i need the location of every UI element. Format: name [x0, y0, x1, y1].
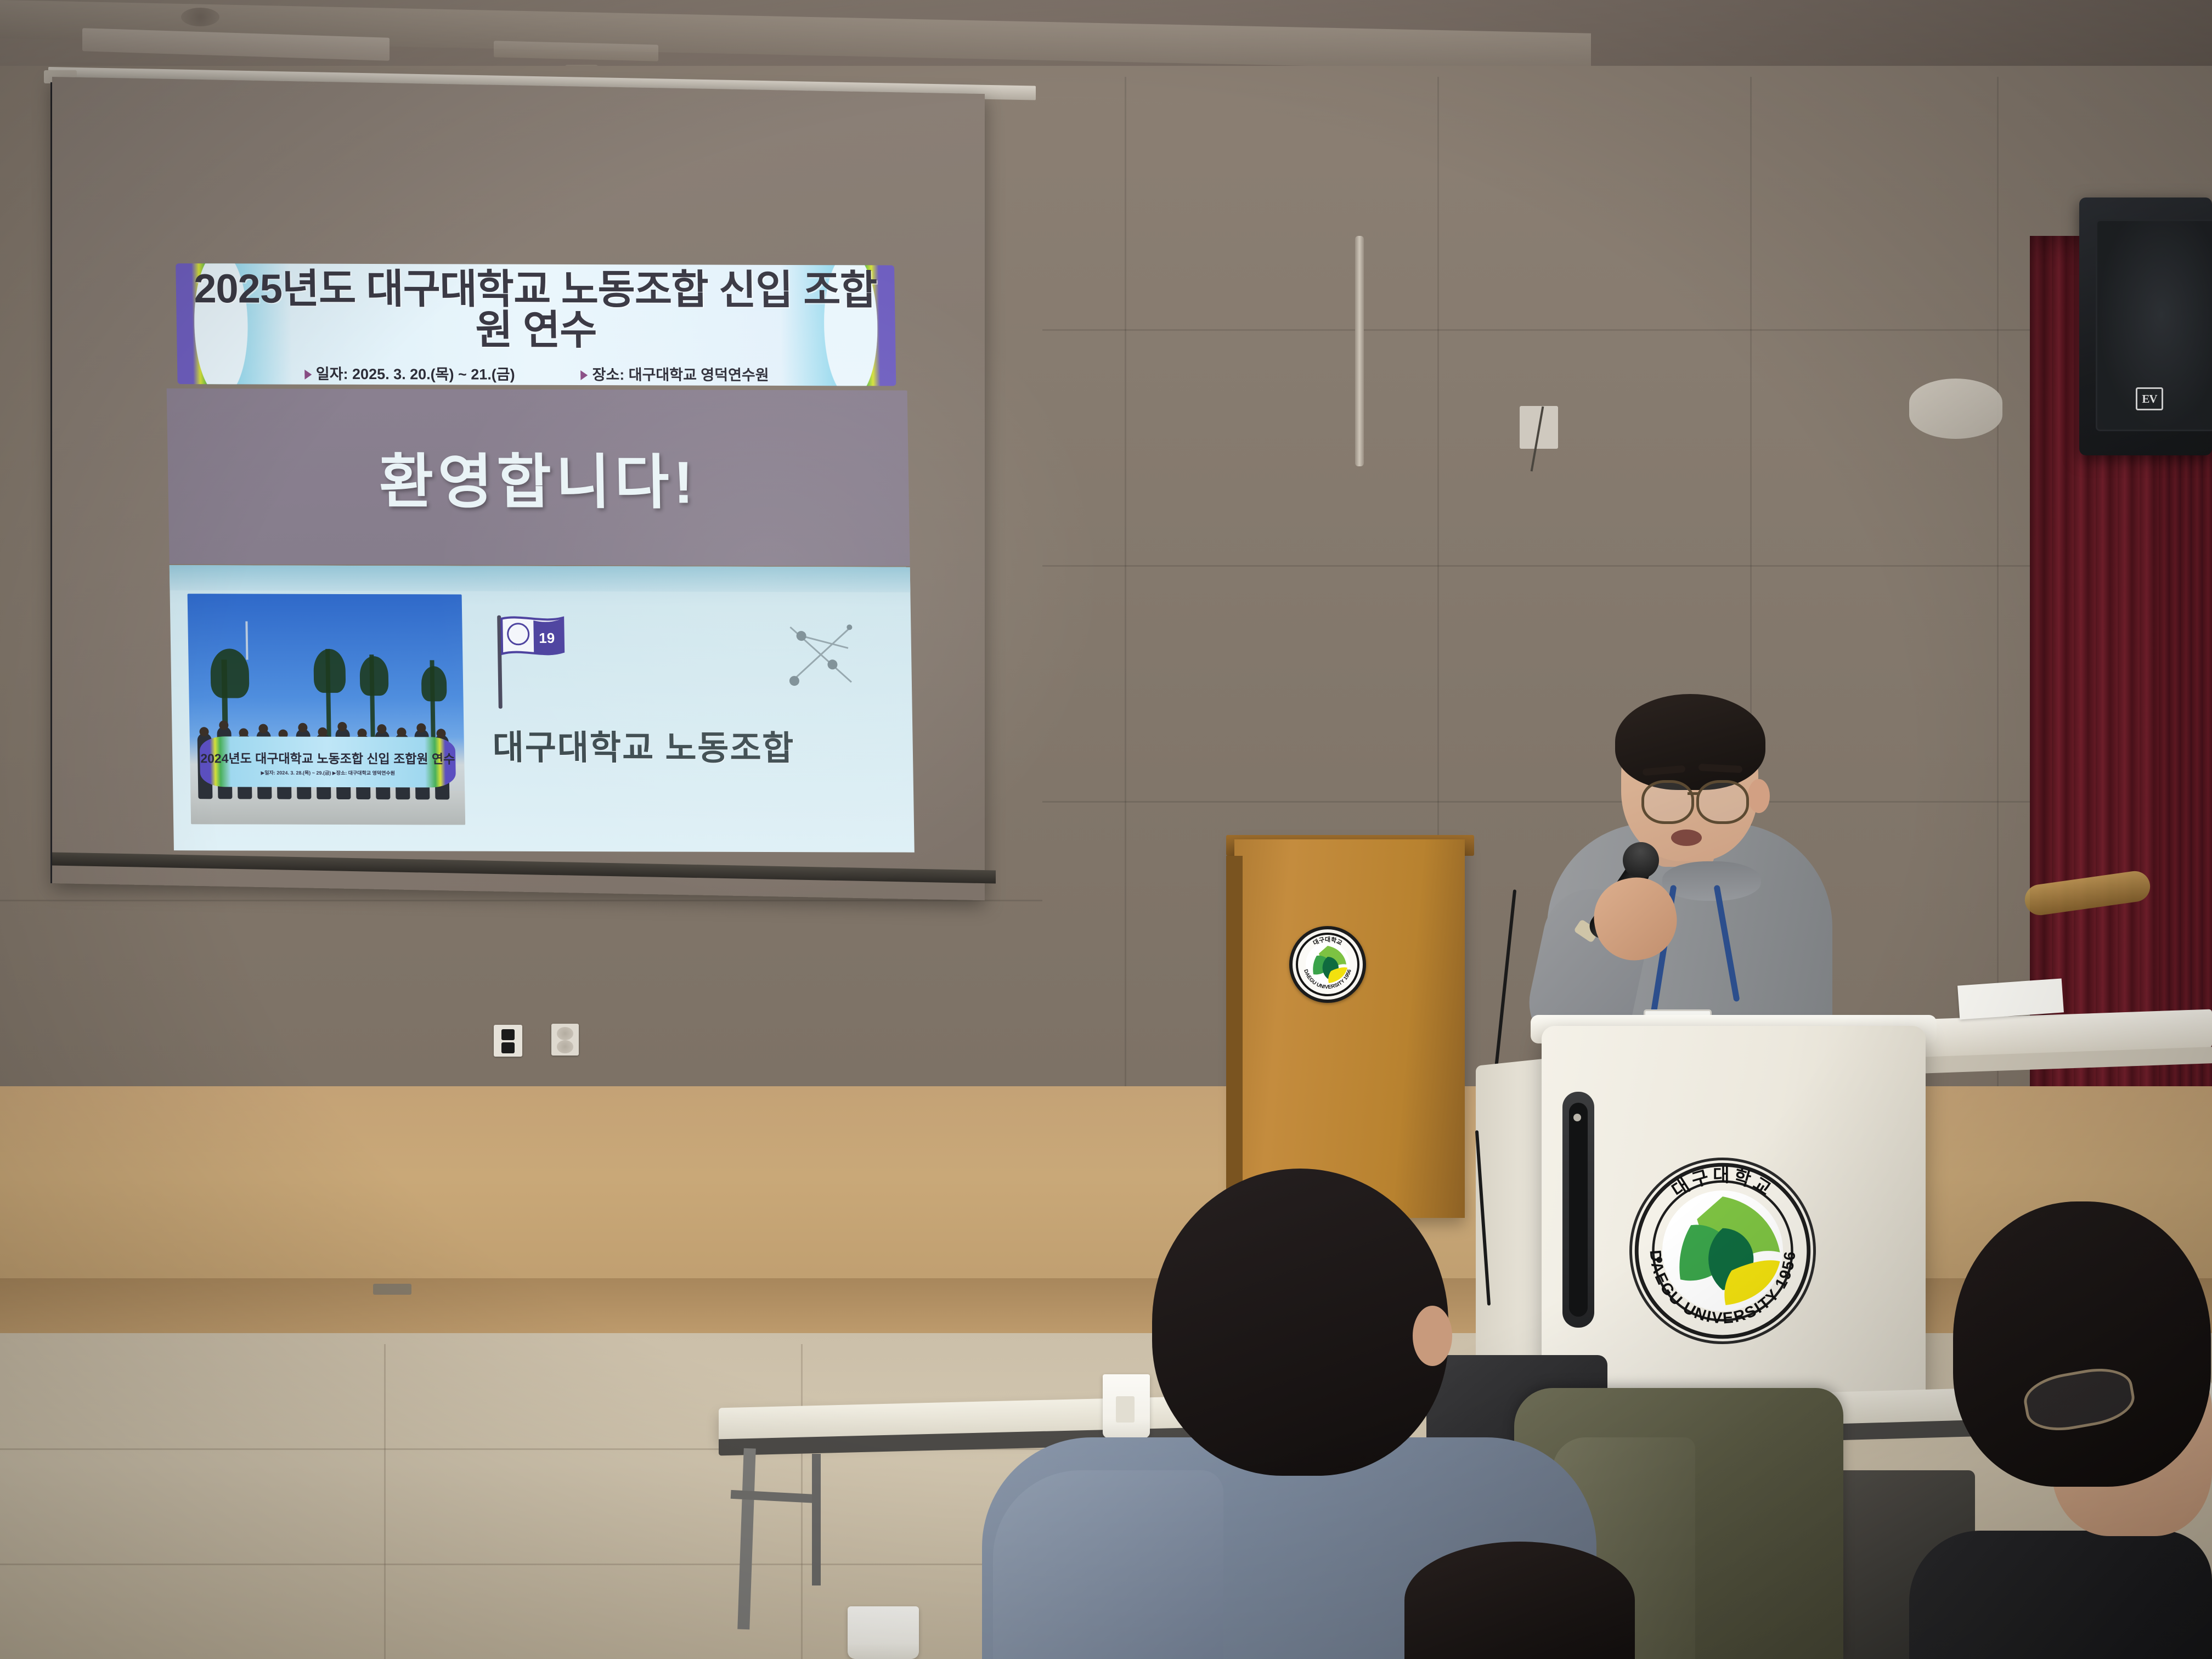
slide-title-banner: 2025년도 대구대학교 노동조합 신입 조합원 연수 일자: 2025. 3.…	[176, 263, 896, 386]
papers-on-shelf[interactable]	[1957, 978, 2064, 1019]
paper-cup[interactable]	[848, 1606, 919, 1659]
slide-welcome-text: 환영합니다!	[379, 434, 698, 521]
speaker-hair	[1615, 694, 1765, 790]
union-flag-icon: 19	[499, 616, 566, 668]
audience-member-head	[1152, 1169, 1448, 1476]
ceiling-speaker-icon	[1909, 379, 2002, 439]
eyeglasses-icon	[1696, 780, 1749, 824]
av-jack-plate[interactable]	[494, 1025, 522, 1057]
ev-brand-logo: EV	[2136, 387, 2163, 410]
audience-member-head	[1953, 1201, 2211, 1487]
audience-member-shoulder	[993, 1470, 1223, 1659]
slide-title-text: 2025년도 대구대학교 노동조합 신입 조합원 연수	[176, 268, 895, 351]
audience-member-head	[1404, 1542, 1635, 1659]
lectern-slot-inner	[1569, 1103, 1588, 1317]
audience-member-body	[1909, 1531, 2212, 1659]
floor-tile-seam	[384, 1344, 386, 1659]
speaker-ear	[1748, 779, 1770, 813]
daegu-university-seal-icon: 대구대학교 DAEGU UNIVERSITY 1956	[1295, 932, 1361, 997]
slide-subtitle-row: 일자: 2025. 3. 20.(목) ~ 21.(금) 장소: 대구대학교 영…	[177, 362, 896, 385]
flag-number: 19	[539, 630, 555, 646]
ceiling-vent-icon	[181, 8, 219, 26]
wall-pipe	[1355, 236, 1364, 466]
floor-socket[interactable]	[373, 1284, 411, 1295]
photo-banner-title: 2024년도 대구대학교 노동조합 신입 조합원 연수	[200, 748, 455, 767]
university-emblem: 대구대학교 DAEGU UNIVERSITY 1956	[1289, 926, 1366, 1003]
power-outlet[interactable]	[551, 1024, 579, 1056]
photo-banner: 2024년도 대구대학교 노동조합 신입 조합원 연수 ▶일자: 2024. 3…	[200, 736, 456, 787]
photo-banner-subtitle: ▶일자: 2024. 3. 28.(목) ~ 29.(금) ▶장소: 대구대학교…	[261, 769, 395, 776]
lectern-lock-screw[interactable]	[1573, 1114, 1581, 1121]
wall-panel-seam	[0, 900, 1042, 901]
power-socket[interactable]	[557, 1040, 573, 1053]
projected-slide: 2025년도 대구대학교 노동조합 신입 조합원 연수 일자: 2025. 3.…	[165, 258, 915, 858]
daegu-university-seal-icon: 대구대학교 DAEGU UNIVERSITY 1956	[1632, 1160, 1813, 1341]
slide-place: 장소: 대구대학교 영덕연수원	[580, 363, 769, 385]
slide-band-stripe	[170, 565, 911, 592]
speaker-collar	[1662, 861, 1761, 901]
union-branding: 19 대구대학교 노동조합	[488, 605, 887, 825]
union-name-text: 대구대학교 노동조합	[492, 720, 795, 770]
cup-print-art	[1116, 1396, 1135, 1423]
slide-photo-band: 2024년도 대구대학교 노동조합 신입 조합원 연수 ▶일자: 2024. 3…	[170, 565, 915, 853]
eyeglasses-bridge	[1688, 792, 1699, 795]
bullet-triangle-icon	[304, 370, 312, 380]
av-jack-port[interactable]	[501, 1042, 515, 1053]
group-photo: 2024년도 대구대학교 노동조합 신입 조합원 연수 ▶일자: 2024. 3…	[188, 594, 466, 825]
power-socket[interactable]	[557, 1027, 573, 1040]
table-leg	[812, 1454, 821, 1585]
audience-member-ear	[1413, 1306, 1452, 1366]
lecture-hall-photo: EV 2025년도 대구대학교 노동조합 신입 조합원 연수 일자: 2025.…	[0, 0, 2212, 1659]
av-jack-port[interactable]	[501, 1029, 515, 1040]
slide-date: 일자: 2025. 3. 20.(목) ~ 21.(금)	[304, 362, 515, 383]
podium-side	[1226, 856, 1243, 1218]
wall-panel-seam	[1997, 77, 1999, 1086]
university-emblem: 대구대학교 DAEGU UNIVERSITY 1956	[1629, 1158, 1816, 1344]
wooden-podium[interactable]	[1234, 839, 1465, 1218]
network-decor-icon	[779, 616, 862, 693]
bullet-triangle-icon	[580, 370, 588, 380]
slide-welcome-band: 환영합니다!	[167, 388, 910, 566]
eyeglasses-icon	[1641, 780, 1694, 824]
speaker-mouth	[1671, 830, 1702, 846]
wall-panel-seam	[1125, 77, 1126, 1086]
